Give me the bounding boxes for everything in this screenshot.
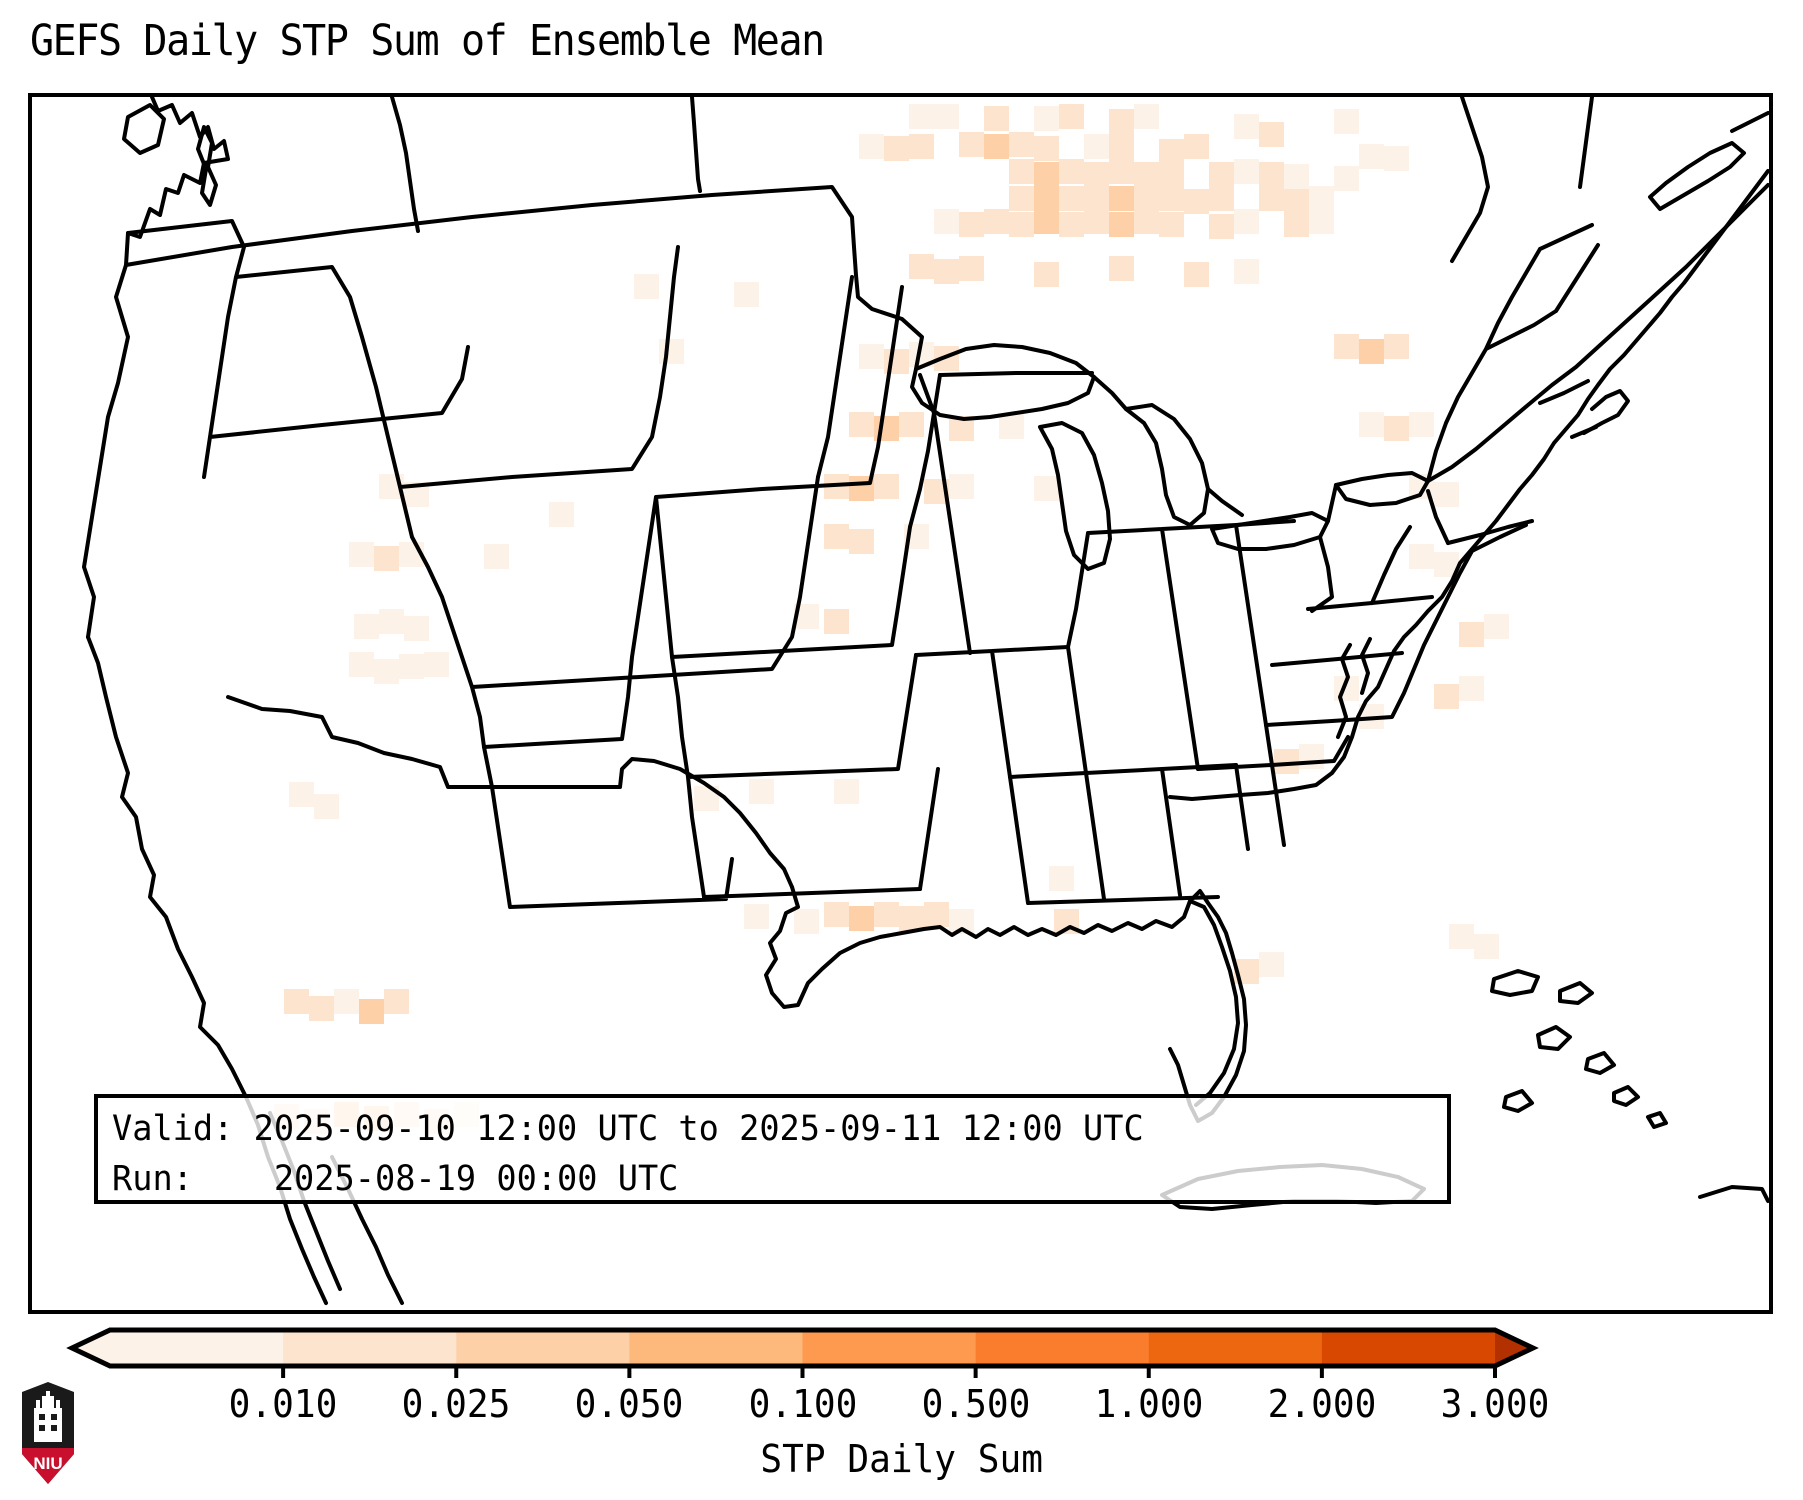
puget-sound	[198, 127, 216, 205]
colorbar[interactable]	[0, 1318, 1803, 1378]
coastline-texas-gulf	[766, 887, 1246, 1121]
colorbar-band	[110, 1330, 284, 1366]
colorbar-tick-label: 0.500	[921, 1382, 1030, 1426]
maritime-canada	[1650, 143, 1744, 209]
info-box: Valid: 2025-09-10 12:00 UTC to 2025-09-1…	[94, 1094, 1451, 1204]
bahamas-islands	[1492, 971, 1666, 1127]
lake-huron	[1126, 405, 1208, 525]
coastline-california	[88, 637, 246, 1097]
olympic-peninsula	[124, 105, 164, 153]
map-panel: Valid: 2025-09-10 12:00 UTC to 2025-09-1…	[28, 93, 1773, 1314]
niu-logo: NIU	[18, 1382, 78, 1484]
colorbar-gradient	[0, 1318, 1803, 1378]
valid-time-line: Valid: 2025-09-10 12:00 UTC to 2025-09-1…	[112, 1104, 1380, 1154]
colorbar-band	[803, 1330, 977, 1366]
colorbar-band	[1149, 1330, 1323, 1366]
colorbar-band	[283, 1330, 457, 1366]
colorbar-tick-label: 0.010	[229, 1382, 338, 1426]
state-borders-plains	[484, 277, 940, 907]
state-borders-west	[128, 221, 910, 747]
newfoundland-coast	[1732, 113, 1768, 131]
us-mexico-border	[228, 697, 792, 887]
page-title: GEFS Daily STP Sum of Ensemble Mean	[30, 16, 824, 66]
lake-erie	[1212, 513, 1328, 549]
colorbar-tick-label: 0.100	[748, 1382, 857, 1426]
colorbar-band	[1322, 1330, 1496, 1366]
state-borders-south	[920, 765, 1284, 903]
lake-ontario	[1336, 473, 1428, 505]
colorbar-tick-label: 0.050	[575, 1382, 684, 1426]
florida-peninsula	[1190, 901, 1238, 1105]
colorbar-tick-label: 0.025	[402, 1382, 511, 1426]
niu-logo-text: NIU	[33, 1454, 62, 1473]
colorbar-tick-label: 2.000	[1268, 1382, 1377, 1426]
colorbar-band	[629, 1330, 803, 1366]
colorbar-tick-labels: 0.0100.0250.0500.1000.5001.0002.0003.000	[0, 1382, 1803, 1438]
hispaniola-outline	[1700, 1187, 1768, 1201]
colorbar-axis-label: STP Daily Sum	[0, 1437, 1803, 1481]
colorbar-band	[976, 1330, 1150, 1366]
long-island	[1448, 521, 1532, 543]
run-time-line: Run: 2025-08-19 00:00 UTC	[112, 1154, 1380, 1204]
state-borders-midwest	[916, 373, 1272, 777]
colorbar-tick-label: 1.000	[1094, 1382, 1203, 1426]
coastline-atlantic	[1170, 171, 1768, 799]
colorbar-band	[456, 1330, 630, 1366]
colorbar-tick-label: 3.000	[1441, 1382, 1550, 1426]
lake-michigan	[1040, 423, 1110, 569]
chesapeake-bay	[1338, 639, 1370, 737]
us-canada-border	[126, 185, 1768, 521]
